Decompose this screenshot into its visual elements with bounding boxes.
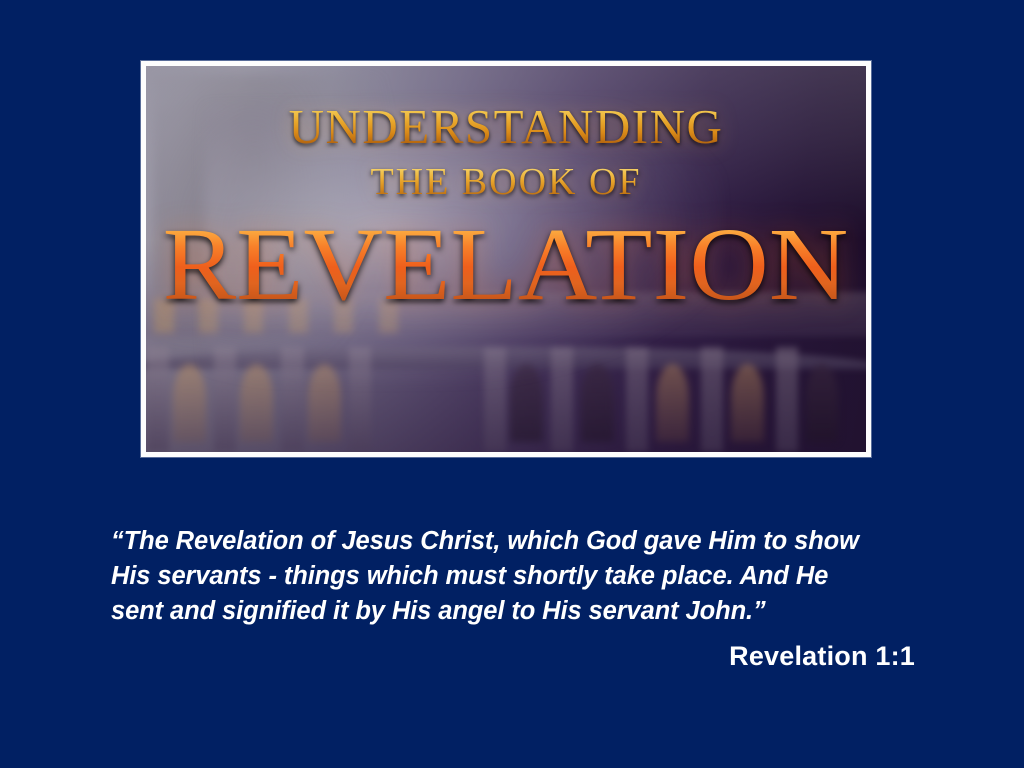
scripture-citation: Revelation 1:1 xyxy=(111,641,915,672)
slide-canvas: Understanding The Book Of Revelation “Th… xyxy=(0,0,1024,768)
title-image: Understanding The Book Of Revelation xyxy=(146,66,866,452)
quote-line-3: sent and signified it by His angel to Hi… xyxy=(111,594,929,629)
scripture-quote: “The Revelation of Jesus Christ, which G… xyxy=(111,524,929,629)
quote-line-1: “The Revelation of Jesus Christ, which G… xyxy=(111,524,929,559)
image-vertical-shading xyxy=(146,66,866,452)
title-image-frame: Understanding The Book Of Revelation xyxy=(141,61,871,457)
quote-line-2: His servants - things which must shortly… xyxy=(111,559,929,594)
